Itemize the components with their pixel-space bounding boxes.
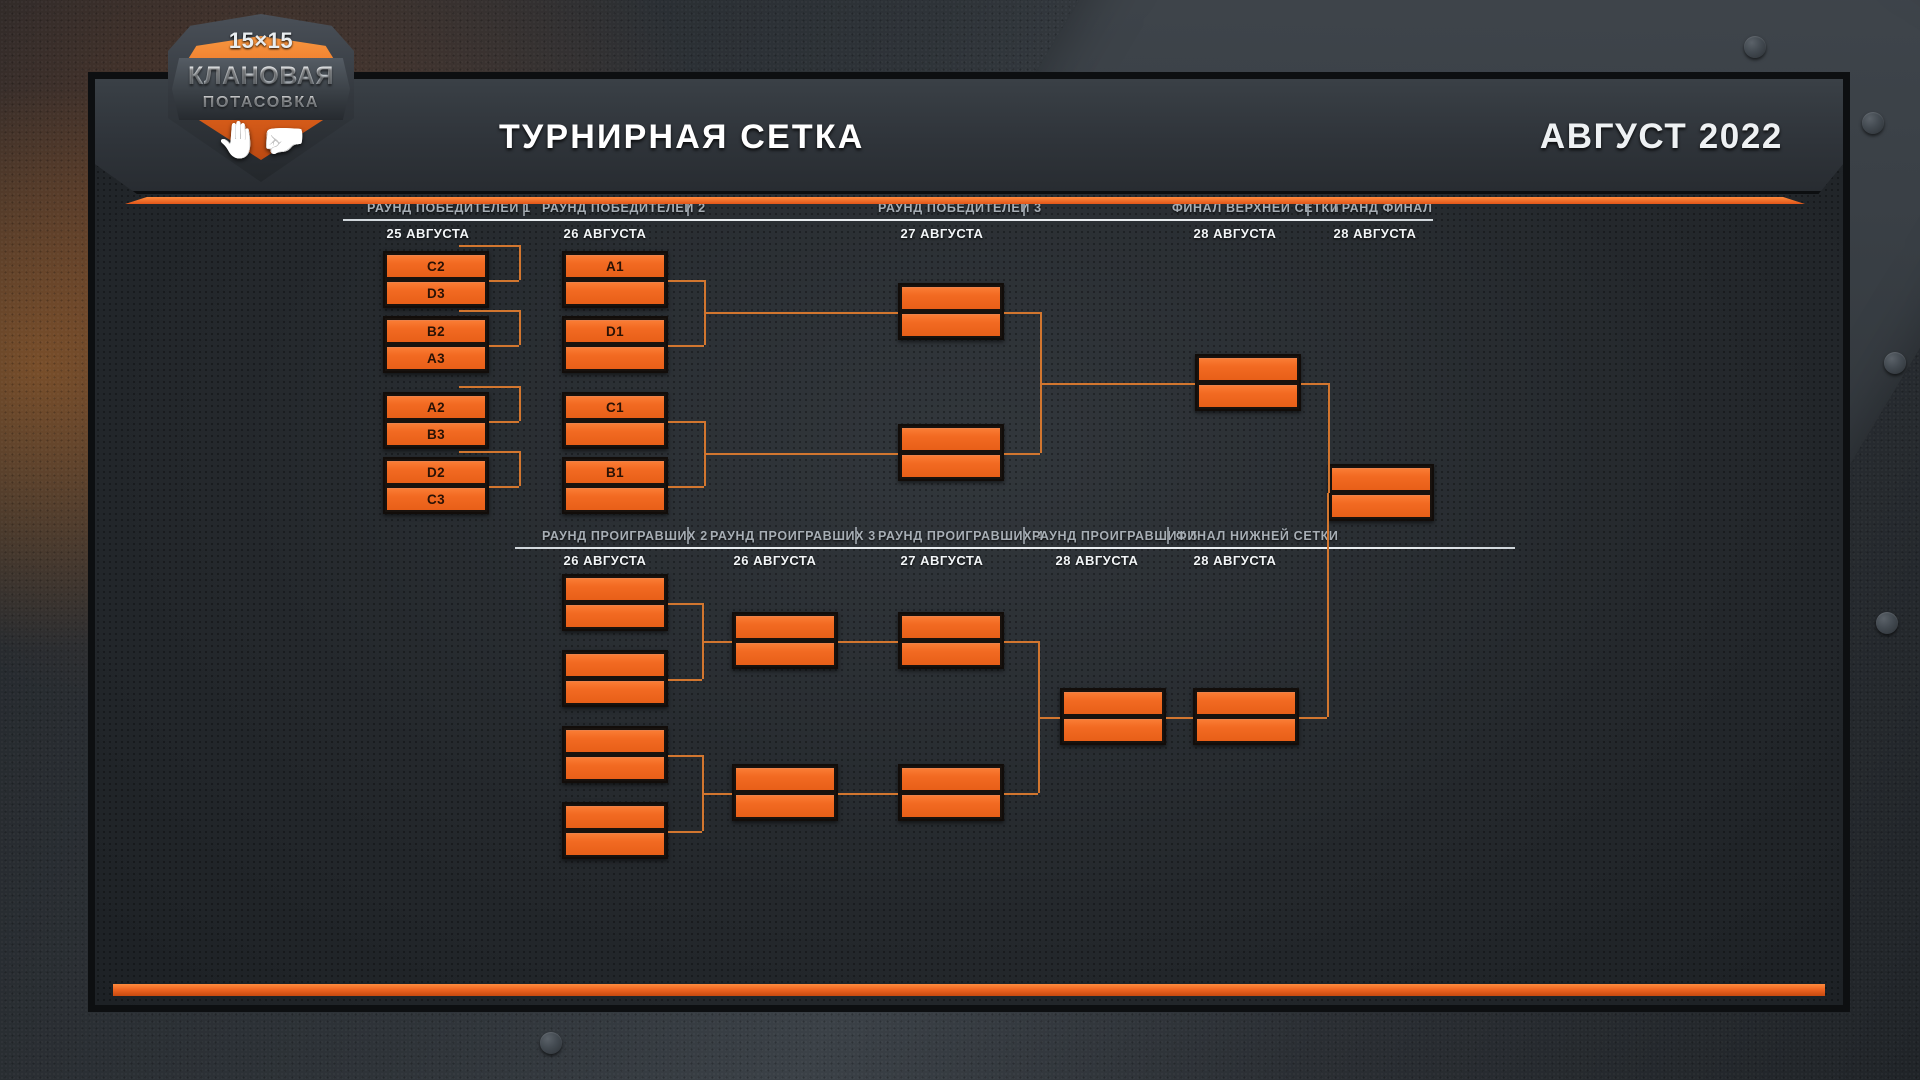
match-slot[interactable]	[902, 643, 1000, 665]
connector-line	[668, 755, 702, 757]
connector-line	[1038, 717, 1060, 719]
match-box[interactable]: C2D3	[383, 251, 489, 308]
match-box[interactable]	[732, 612, 838, 669]
round-separator	[1023, 527, 1025, 544]
match-slot[interactable]	[902, 314, 1000, 336]
connector-line	[489, 421, 519, 423]
match-box[interactable]	[562, 650, 668, 707]
match-box[interactable]: D1	[562, 316, 668, 373]
header-accent-bar	[125, 197, 1805, 204]
connector-line	[519, 245, 521, 280]
rivet-icon	[1884, 352, 1906, 374]
connector-line	[519, 451, 521, 486]
round-label: РАУНД ПРОИГРАВШИХ 5	[1032, 529, 1198, 543]
match-slot[interactable]	[1064, 692, 1162, 714]
connector-line	[838, 641, 898, 643]
match-box[interactable]	[898, 612, 1004, 669]
logo-subtitle: ПОТАСОВКА	[168, 94, 354, 112]
match-box[interactable]: B2A3	[383, 316, 489, 373]
tournament-logo: 15×15 КЛАНОВАЯ ПОТАСОВКА 🤚🤛	[168, 14, 354, 182]
match-box[interactable]	[1060, 688, 1166, 745]
round-separator	[855, 527, 857, 544]
rivet-icon	[1744, 36, 1766, 58]
match-slot[interactable]: C2	[387, 255, 485, 277]
match-box[interactable]: C1	[562, 392, 668, 449]
connector-line	[1040, 383, 1195, 385]
match-box[interactable]: A2B3	[383, 392, 489, 449]
match-slot[interactable]	[566, 605, 664, 627]
connector-line	[1004, 453, 1040, 455]
match-slot[interactable]	[1197, 719, 1295, 741]
match-slot[interactable]	[566, 423, 664, 445]
round-date: 27 АВГУСТА	[901, 226, 984, 241]
connector-line	[489, 486, 519, 488]
tournament-month: АВГУСТ 2022	[1540, 117, 1783, 157]
match-slot[interactable]	[902, 428, 1000, 450]
connector-line	[519, 310, 521, 345]
connector-line	[668, 345, 704, 347]
connector-line	[704, 453, 898, 455]
fists-icon: 🤚🤛	[168, 122, 354, 158]
match-slot[interactable]	[566, 654, 664, 676]
match-slot[interactable]	[1199, 385, 1297, 407]
page-title: ТУРНИРНАЯ СЕТКА	[499, 118, 865, 157]
connector-line	[668, 831, 702, 833]
match-box[interactable]: B1	[562, 457, 668, 514]
bracket-canvas: РАУНД ПОБЕДИТЕЛЕЙ 1РАУНД ПОБЕДИТЕЛЕЙ 2РА…	[95, 79, 1843, 1005]
rivet-icon	[540, 1032, 562, 1054]
round-date: 26 АВГУСТА	[564, 226, 647, 241]
connector-line	[704, 312, 898, 314]
round-label: РАУНД ПРОИГРАВШИХ 2	[542, 529, 708, 543]
match-slot[interactable]	[1199, 358, 1297, 380]
match-slot[interactable]	[1332, 468, 1430, 490]
match-box[interactable]	[732, 764, 838, 821]
match-box[interactable]: D2C3	[383, 457, 489, 514]
connector-line	[1004, 312, 1040, 314]
match-slot[interactable]: D3	[387, 282, 485, 304]
match-slot[interactable]	[1332, 495, 1430, 517]
connector-line	[1301, 383, 1328, 385]
match-slot[interactable]	[566, 806, 664, 828]
match-box[interactable]	[562, 802, 668, 859]
header-rule	[343, 219, 1433, 221]
match-box[interactable]	[898, 424, 1004, 481]
connector-line	[668, 421, 704, 423]
connector-line	[1327, 493, 1328, 495]
connector-line	[489, 345, 519, 347]
match-slot[interactable]	[736, 616, 834, 638]
match-slot[interactable]: D2	[387, 461, 485, 483]
match-slot[interactable]	[566, 578, 664, 600]
match-box[interactable]	[562, 726, 668, 783]
connector-line	[838, 793, 898, 795]
connector-line	[668, 486, 704, 488]
match-slot[interactable]: A1	[566, 255, 664, 277]
round-date: 28 АВГУСТА	[1194, 226, 1277, 241]
connector-line	[702, 641, 732, 643]
connector-line	[1166, 717, 1193, 719]
round-date: 28 АВГУСТА	[1056, 553, 1139, 568]
round-date: 26 АВГУСТА	[734, 553, 817, 568]
connector-line	[702, 793, 732, 795]
rivet-icon	[1876, 612, 1898, 634]
connector-line	[519, 386, 521, 421]
match-slot[interactable]: A2	[387, 396, 485, 418]
round-date: 26 АВГУСТА	[564, 553, 647, 568]
match-slot[interactable]	[902, 455, 1000, 477]
connector-line	[668, 679, 702, 681]
match-box[interactable]: A1	[562, 251, 668, 308]
match-slot[interactable]: C1	[566, 396, 664, 418]
match-slot[interactable]: B3	[387, 423, 485, 445]
logo-format: 15×15	[168, 28, 354, 54]
round-label: ФИНАЛ НИЖНЕЙ СЕТКИ	[1176, 529, 1339, 543]
match-slot[interactable]: D1	[566, 320, 664, 342]
round-label: РАУНД ПРОИГРАВШИХ 3	[710, 529, 876, 543]
connector-line	[1328, 383, 1330, 493]
round-date: 25 АВГУСТА	[387, 226, 470, 241]
round-date: 28 АВГУСТА	[1334, 226, 1417, 241]
match-slot[interactable]: B1	[566, 461, 664, 483]
match-box[interactable]	[1195, 354, 1301, 411]
connector-line	[1004, 641, 1038, 643]
match-box[interactable]	[898, 283, 1004, 340]
match-box[interactable]	[562, 574, 668, 631]
match-slot[interactable]: C3	[387, 488, 485, 510]
match-slot[interactable]: B2	[387, 320, 485, 342]
match-slot[interactable]	[1197, 692, 1295, 714]
connector-line	[459, 310, 519, 312]
match-slot[interactable]	[566, 757, 664, 779]
match-slot[interactable]	[736, 795, 834, 817]
connector-line	[668, 280, 704, 282]
connector-line	[1004, 793, 1038, 795]
round-separator	[1167, 527, 1169, 544]
match-slot[interactable]	[902, 616, 1000, 638]
round-date: 28 АВГУСТА	[1194, 553, 1277, 568]
logo-title: КЛАНОВАЯ	[168, 62, 354, 91]
connector-line	[1327, 493, 1329, 717]
match-slot[interactable]	[1064, 719, 1162, 741]
match-slot[interactable]	[902, 768, 1000, 790]
match-slot[interactable]	[736, 768, 834, 790]
connector-line	[489, 280, 519, 282]
connector-line	[668, 603, 702, 605]
rivet-icon	[1862, 112, 1884, 134]
match-slot[interactable]	[566, 347, 664, 369]
match-box[interactable]	[1193, 688, 1299, 745]
match-slot[interactable]: A3	[387, 347, 485, 369]
match-slot[interactable]	[902, 287, 1000, 309]
match-box[interactable]	[898, 764, 1004, 821]
match-slot[interactable]	[736, 643, 834, 665]
match-slot[interactable]	[566, 282, 664, 304]
round-separator	[687, 527, 689, 544]
bracket-panel: ТУРНИРНАЯ СЕТКА АВГУСТ 2022 РАУНД ПОБЕДИ…	[88, 72, 1850, 1012]
header-rule	[515, 547, 1515, 549]
round-label: РАУНД ПРОИГРАВШИХ 4	[878, 529, 1044, 543]
round-date: 27 АВГУСТА	[901, 553, 984, 568]
footer-accent-bar	[113, 984, 1825, 996]
match-slot[interactable]	[902, 795, 1000, 817]
match-slot[interactable]	[566, 681, 664, 703]
match-slot[interactable]	[566, 488, 664, 510]
connector-line	[459, 386, 519, 388]
match-box[interactable]	[1328, 464, 1434, 521]
connector-line	[459, 451, 519, 453]
match-slot[interactable]	[566, 833, 664, 855]
match-slot[interactable]	[566, 730, 664, 752]
connector-line	[1299, 717, 1327, 719]
connector-line	[459, 245, 519, 247]
